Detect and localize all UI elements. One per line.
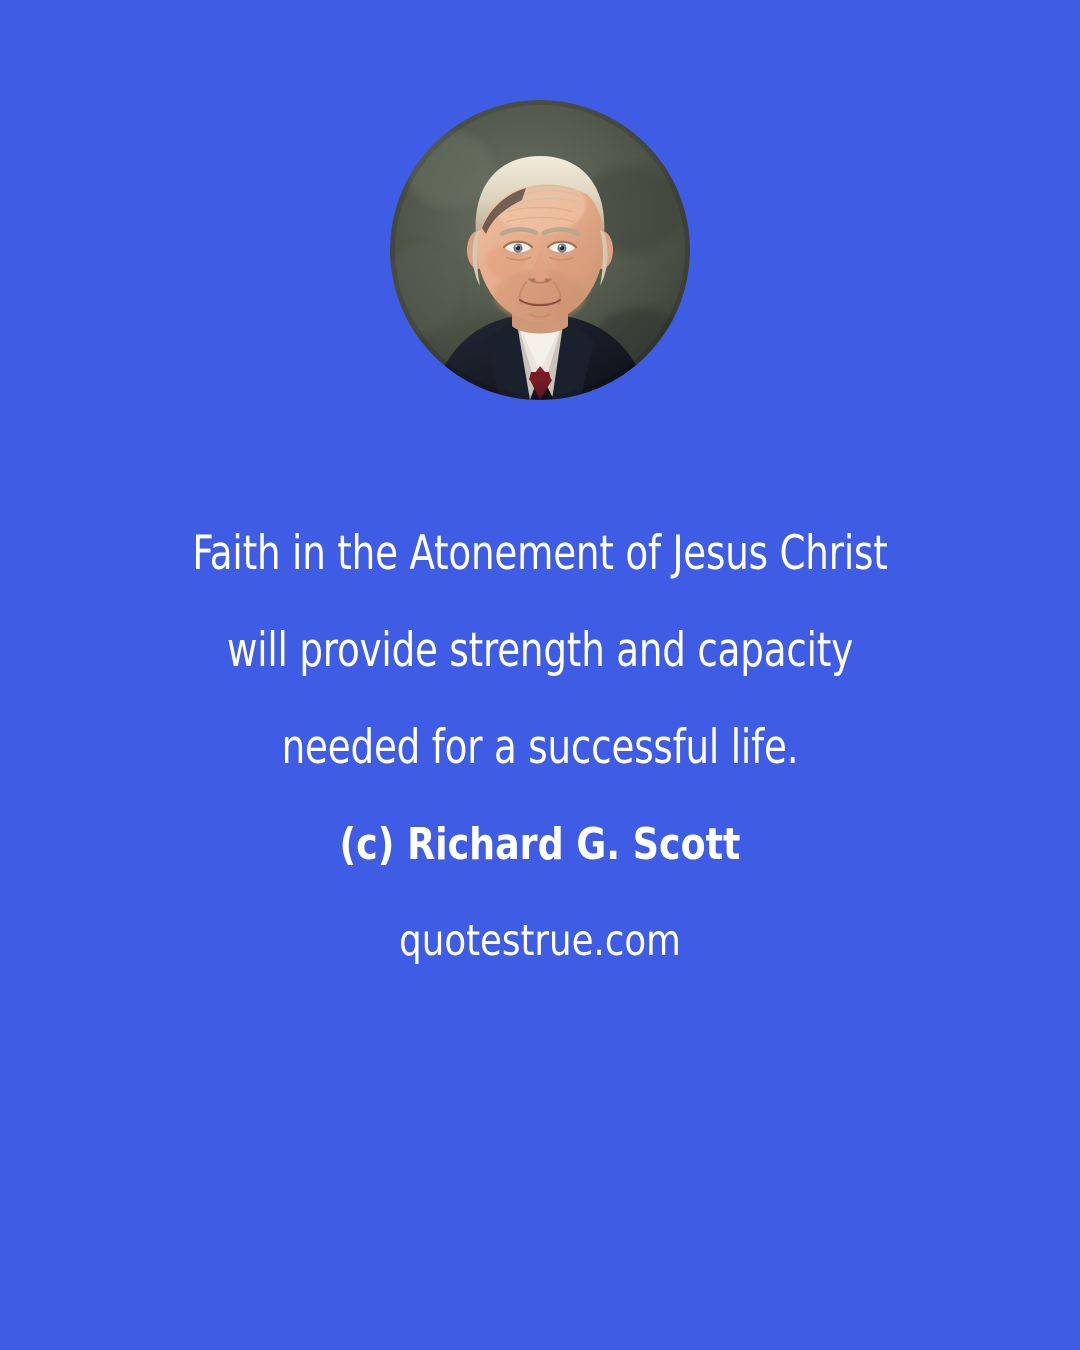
quote-text-block: Faith in the Atonement of Jesus Christ w… — [0, 505, 1080, 990]
quote-attribution: (c) Richard G. Scott — [43, 796, 1037, 893]
quote-line-3: needed for a successful life. — [65, 699, 1015, 796]
website-credit: quotestrue.com — [43, 893, 1037, 990]
quote-line-1: Faith in the Atonement of Jesus Christ — [65, 505, 1015, 602]
author-portrait — [390, 100, 690, 400]
author-portrait-photo — [390, 100, 690, 400]
quote-card: Faith in the Atonement of Jesus Christ w… — [0, 0, 1080, 1350]
quote-line-2: will provide strength and capacity — [65, 602, 1015, 699]
